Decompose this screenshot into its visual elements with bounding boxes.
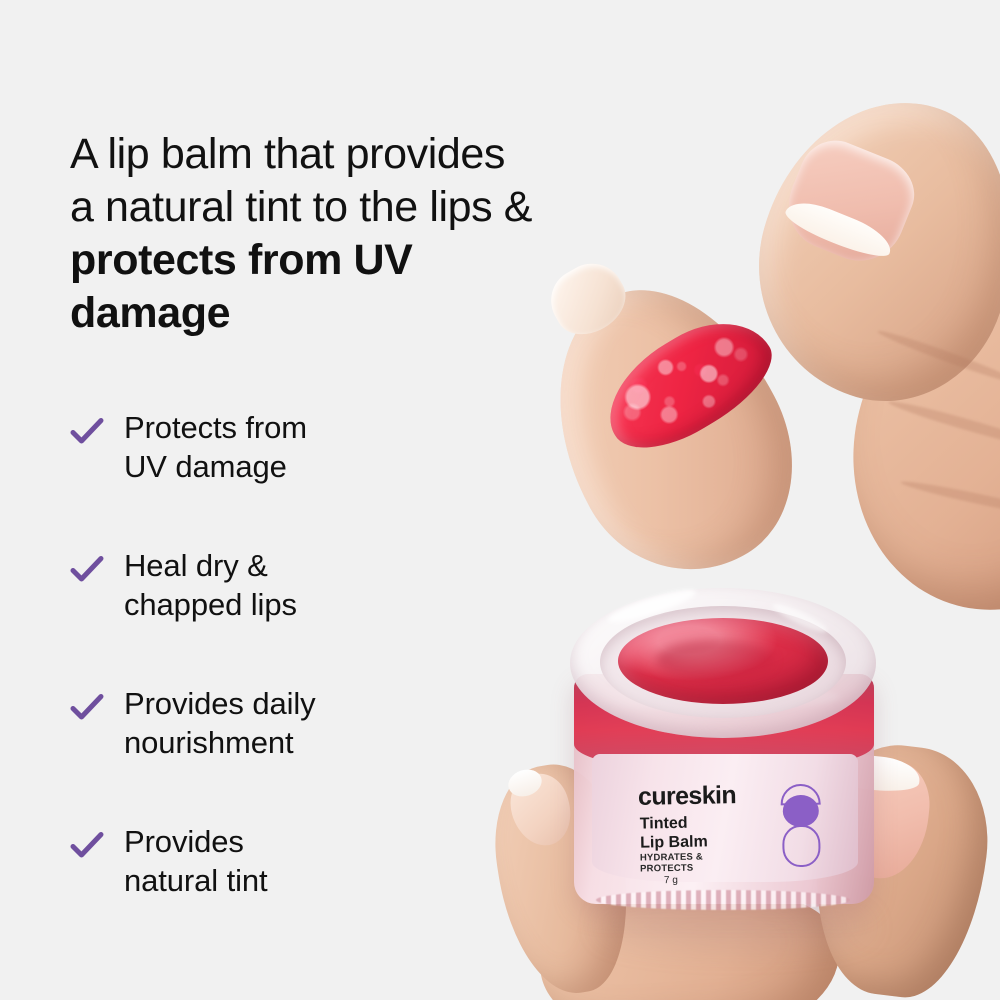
- jar-beaded-base-rim: [596, 890, 850, 910]
- benefit-label: Provides daily nourishment: [124, 684, 490, 762]
- benefits-list: Protects from UV damage Heal dry & chapp…: [70, 408, 490, 900]
- benefit-label: Protects from UV damage: [124, 408, 490, 486]
- cureskin-logo-icon: [773, 774, 829, 871]
- product-photo: cureskin Tinted Lip Balm HYDRATES & PROT…: [460, 0, 1000, 1000]
- product-jar: cureskin Tinted Lip Balm HYDRATES & PROT…: [570, 588, 880, 918]
- benefit-label: Heal dry & chapped lips: [124, 546, 490, 624]
- balm-surface-dip: [656, 640, 774, 680]
- benefit-item: Protects from UV damage: [70, 408, 490, 486]
- check-icon: [70, 416, 104, 446]
- brand-name: cureskin: [638, 781, 737, 812]
- product-label: cureskin Tinted Lip Balm HYDRATES & PROT…: [592, 754, 858, 882]
- product-marketing-image: A lip balm that provides a natural tint …: [0, 0, 1000, 1000]
- check-icon: [70, 692, 104, 722]
- check-icon: [70, 830, 104, 860]
- product-tagline: HYDRATES & PROTECTS: [640, 852, 703, 874]
- net-weight: 7 g: [664, 875, 678, 886]
- check-icon: [70, 554, 104, 584]
- product-name: Tinted Lip Balm: [640, 813, 708, 852]
- upper-hand: [555, 70, 1000, 590]
- benefit-item: Provides natural tint: [70, 822, 490, 900]
- benefit-label: Provides natural tint: [124, 822, 490, 900]
- benefit-item: Heal dry & chapped lips: [70, 546, 490, 624]
- benefit-item: Provides daily nourishment: [70, 684, 490, 762]
